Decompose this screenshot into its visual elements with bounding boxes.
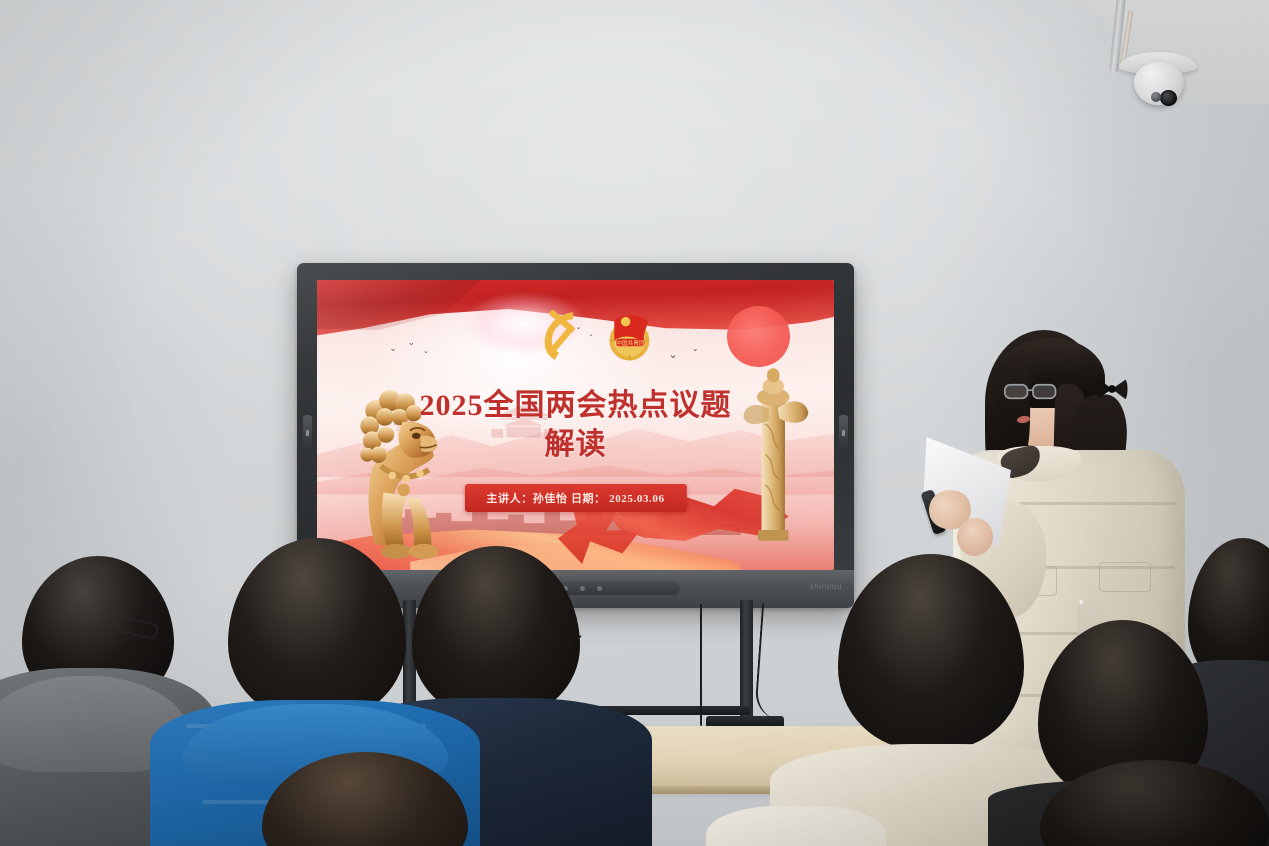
slide-subtitle-bar: 主讲人：孙佳怡 日期： 2025.03.06 [464, 484, 686, 512]
bird-silhouette-icon: ⌄ [389, 344, 397, 353]
slide-subtitle-text: 主讲人：孙佳怡 日期： 2025.03.06 [486, 493, 664, 505]
bird-silhouette-icon: ⌄ [576, 324, 582, 331]
display-brand-logo: shinpuu [810, 582, 842, 591]
jacket-pocket-right [1099, 562, 1151, 592]
camera-lens-icon [1160, 90, 1177, 106]
camera-dome [1134, 62, 1184, 105]
bird-silhouette-icon: ⌄ [423, 348, 429, 355]
camera-ir-led-icon [1151, 92, 1161, 102]
display-screen[interactable]: 中国共青团 ⌄ ⌄ ⌄ ⌄ ⌄ ⌄ ⌄ 2025全国两会热点议题 解读 主讲人：… [317, 280, 834, 570]
presentation-slide: 中国共青团 ⌄ ⌄ ⌄ ⌄ ⌄ ⌄ ⌄ 2025全国两会热点议题 解读 主讲人：… [317, 280, 834, 570]
bezel-handle-left [303, 415, 312, 451]
student-white-coat-shoulder [706, 806, 886, 846]
slide-title-line1: 2025全国两会热点议题 [420, 389, 732, 422]
cpc-hammer-sickle-emblem-icon [532, 306, 594, 367]
bird-silhouette-icon: ⌄ [407, 338, 415, 347]
bird-silhouette-icon: ⌄ [669, 350, 678, 361]
slide-title: 2025全国两会热点议题 解读 [317, 386, 834, 465]
classroom-scene: 中国共青团 ⌄ ⌄ ⌄ ⌄ ⌄ ⌄ ⌄ 2025全国两会热点议题 解读 主讲人：… [0, 0, 1269, 846]
hair-bow-icon [1095, 374, 1129, 404]
slide-title-line2: 解读 [317, 425, 834, 465]
dome-security-camera [1119, 52, 1197, 108]
communist-youth-league-emblem-icon: 中国共青团 [601, 303, 658, 367]
interactive-flat-panel[interactable]: 中国共青团 ⌄ ⌄ ⌄ ⌄ ⌄ ⌄ ⌄ 2025全国两会热点议题 解读 主讲人：… [297, 263, 854, 608]
display-cable-icon [700, 604, 702, 726]
display-cable-icon [754, 603, 790, 721]
jacket-button [1079, 600, 1085, 606]
bezel-handle-right [839, 415, 848, 451]
bird-silhouette-icon: ⌄ [588, 332, 593, 338]
volume-up-button[interactable] [580, 586, 585, 591]
eyeglasses-icon [1003, 382, 1061, 402]
bird-silhouette-icon: ⌄ [692, 345, 699, 353]
red-sun-icon [727, 306, 790, 367]
home-button[interactable] [597, 586, 602, 591]
svg-text:中国共青团: 中国共青团 [617, 339, 646, 347]
